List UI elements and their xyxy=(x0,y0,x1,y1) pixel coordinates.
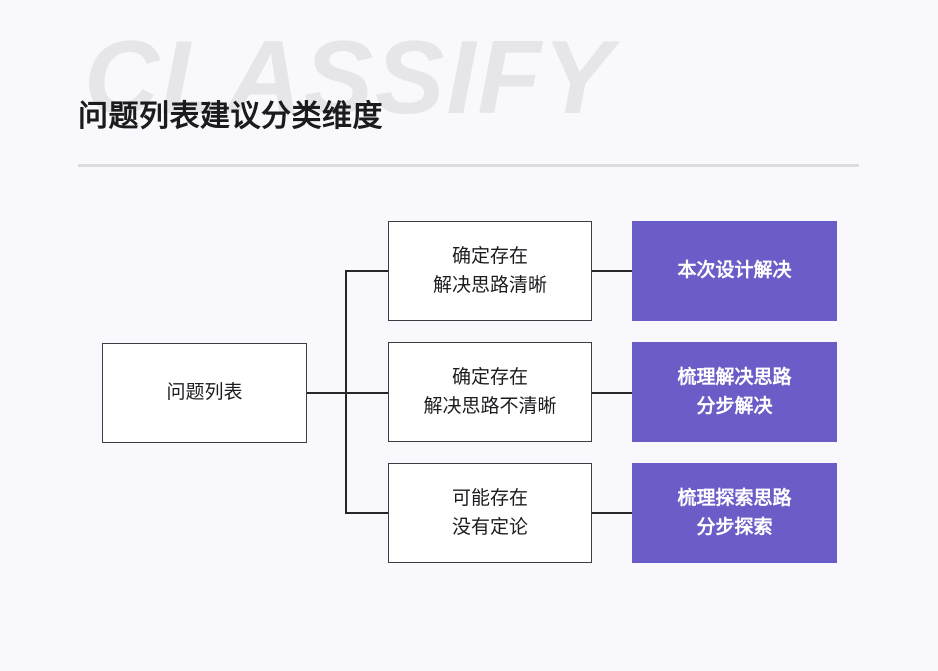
node-condition-2[interactable]: 确定存在 解决思路不清晰 xyxy=(388,342,592,442)
slide-canvas: CLASSIFY 问题列表建议分类维度 问题列表 确定存在 解决思路清晰 确定存… xyxy=(0,0,938,671)
node-outcome-1[interactable]: 本次设计解决 xyxy=(632,221,837,321)
node-outcome-3-label: 梳理探索思路 分步探索 xyxy=(677,484,791,543)
node-condition-3-label: 可能存在 没有定论 xyxy=(452,484,528,543)
node-root-label: 问题列表 xyxy=(166,378,242,407)
connector-outcome-1 xyxy=(591,270,633,272)
node-root[interactable]: 问题列表 xyxy=(102,343,307,443)
node-condition-3[interactable]: 可能存在 没有定论 xyxy=(388,463,592,563)
connector-outcome-3 xyxy=(591,512,633,514)
node-outcome-2-label: 梳理解决思路 分步解决 xyxy=(677,363,791,422)
connector-branch-2 xyxy=(345,392,389,394)
node-outcome-1-label: 本次设计解决 xyxy=(677,256,791,285)
classification-diagram: 问题列表 确定存在 解决思路清晰 确定存在 解决思路不清晰 可能存在 没有定论 … xyxy=(0,0,938,671)
connector-root-stem xyxy=(307,392,347,394)
node-condition-2-label: 确定存在 解决思路不清晰 xyxy=(423,363,556,422)
node-condition-1[interactable]: 确定存在 解决思路清晰 xyxy=(388,221,592,321)
connector-outcome-2 xyxy=(591,392,633,394)
node-condition-1-label: 确定存在 解决思路清晰 xyxy=(433,242,547,301)
node-outcome-2[interactable]: 梳理解决思路 分步解决 xyxy=(632,342,837,442)
node-outcome-3[interactable]: 梳理探索思路 分步探索 xyxy=(632,463,837,563)
connector-branch-1 xyxy=(345,270,389,272)
connector-branch-3 xyxy=(345,512,389,514)
